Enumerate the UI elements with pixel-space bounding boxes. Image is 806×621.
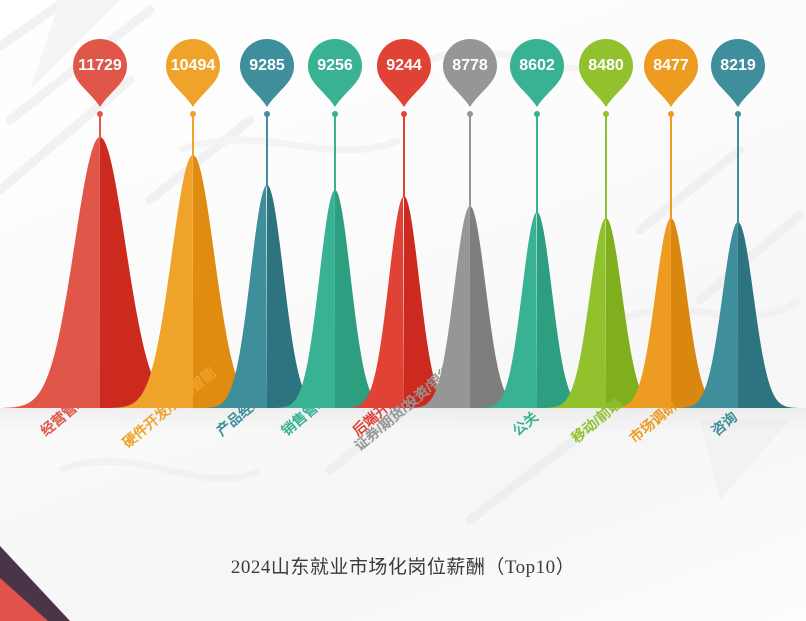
bell-curve-plot xyxy=(0,0,806,621)
chart-canvas: 1172910494928592569244877886028480847782… xyxy=(0,0,806,621)
balloon-knob-c3 xyxy=(264,111,270,117)
chart-title: 2024山东就业市场化岗位薪酬（Top10） xyxy=(0,552,806,579)
balloon-marker-c2[interactable] xyxy=(166,39,220,107)
balloon-marker-c7[interactable] xyxy=(510,39,564,107)
balloon-shape xyxy=(166,39,220,107)
bell-curve-c1-light xyxy=(4,137,100,408)
balloon-shape xyxy=(73,39,127,107)
balloon-knob-c4 xyxy=(332,111,338,117)
balloon-marker-c4[interactable] xyxy=(308,39,362,107)
balloon-shape xyxy=(510,39,564,107)
balloon-shape xyxy=(443,39,497,107)
balloon-shape xyxy=(377,39,431,107)
balloon-knob-c10 xyxy=(735,111,741,117)
balloon-shape xyxy=(711,39,765,107)
balloon-marker-c5[interactable] xyxy=(377,39,431,107)
balloon-knob-c8 xyxy=(603,111,609,117)
balloon-marker-c3[interactable] xyxy=(240,39,294,107)
balloon-marker-c10[interactable] xyxy=(711,39,765,107)
balloon-marker-c6[interactable] xyxy=(443,39,497,107)
balloon-knob-c6 xyxy=(467,111,473,117)
balloon-shape xyxy=(308,39,362,107)
bell-curve-c10-dark xyxy=(738,222,797,408)
balloon-marker-c9[interactable] xyxy=(644,39,698,107)
balloon-shape xyxy=(240,39,294,107)
balloon-shape xyxy=(579,39,633,107)
balloon-shape xyxy=(644,39,698,107)
balloon-marker-c8[interactable] xyxy=(579,39,633,107)
balloon-knob-c2 xyxy=(190,111,196,117)
balloon-knob-c7 xyxy=(534,111,540,117)
balloon-marker-c1[interactable] xyxy=(73,39,127,107)
balloon-knob-c5 xyxy=(401,111,407,117)
balloon-knob-c9 xyxy=(668,111,674,117)
balloon-knob-c1 xyxy=(97,111,103,117)
